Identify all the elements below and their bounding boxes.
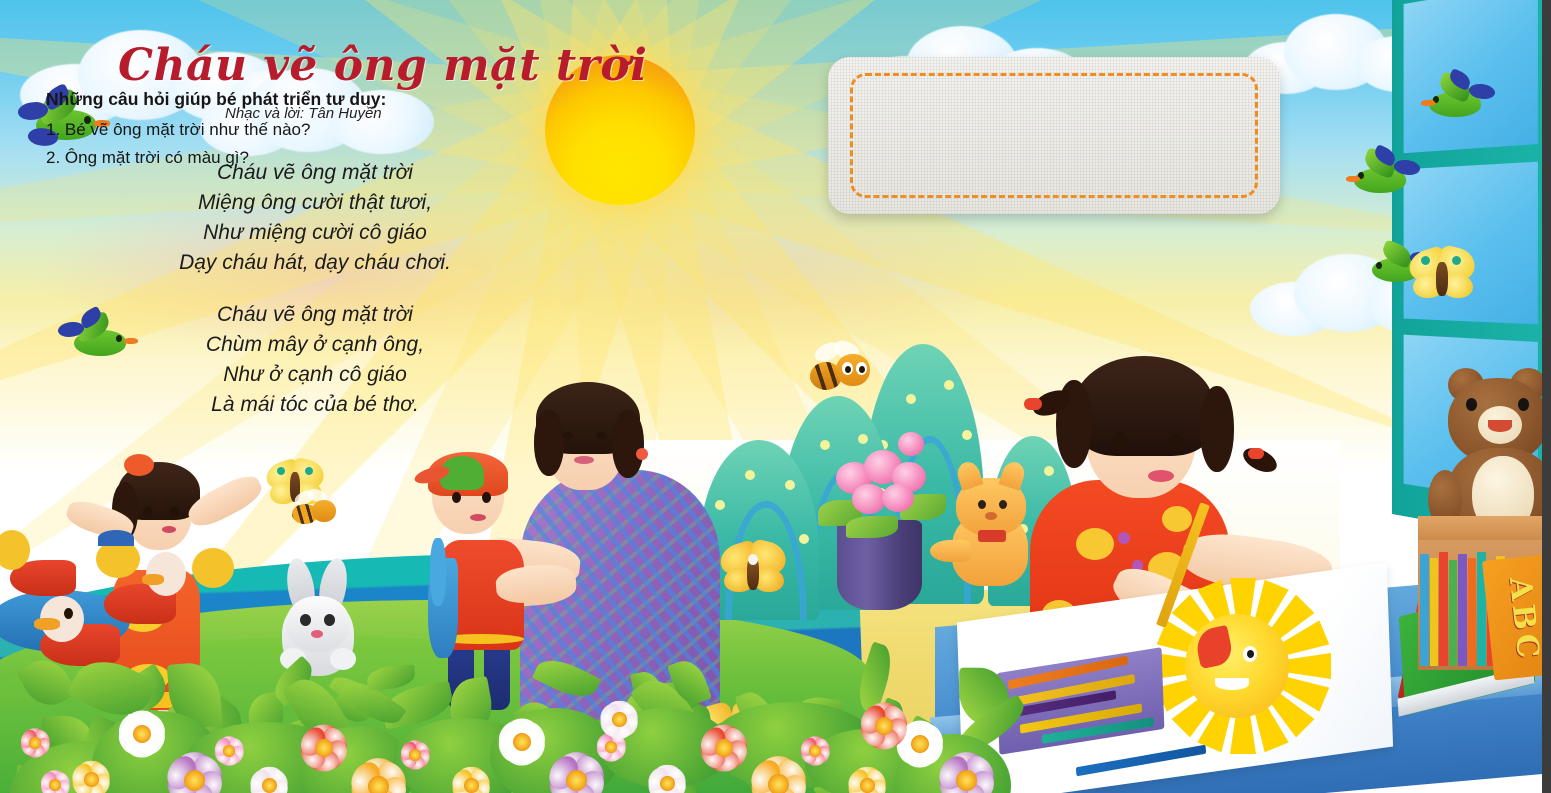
flower (648, 764, 687, 793)
flower-center (29, 737, 40, 748)
flower (214, 736, 244, 766)
lyric-line: Là mái tóc của bé thơ. (150, 390, 480, 420)
flower-center (860, 778, 875, 793)
question-box-dashed-border (850, 73, 1258, 198)
lyrics-stanza-1: Cháu vẽ ông mặt trời Miệng ông cười thật… (150, 158, 480, 278)
question-item-2: 2. Ông mặt trời có màu gì? (46, 148, 249, 168)
question-box-heading: Những câu hỏi giúp bé phát triển tư duy: (46, 89, 386, 110)
lyric-line: Miệng ông cười thật tươi, (150, 188, 480, 218)
lyric-line: Như ở cạnh cô giáo (150, 360, 480, 390)
leaf (532, 652, 602, 706)
flower (400, 740, 430, 770)
leaf (366, 664, 415, 690)
flower (600, 700, 639, 739)
flower-center (223, 745, 234, 756)
flower (498, 718, 546, 766)
flower (40, 770, 70, 793)
question-item-1: 1. Bé vẽ ông mặt trời như thế nào? (46, 120, 310, 140)
lyric-line: Như miệng cười cô giáo (150, 218, 480, 248)
flower (938, 752, 995, 793)
drawn-sun-on-paper (1155, 588, 1315, 748)
abc-book: ABC (1482, 552, 1551, 681)
bird (1415, 72, 1493, 124)
butterfly (1405, 246, 1479, 304)
song-lyrics: Cháu vẽ ông mặt trời Miệng ông cười thật… (150, 158, 480, 442)
flower (250, 766, 289, 793)
flower-center (368, 776, 390, 793)
flower (750, 756, 807, 793)
flower-center (464, 778, 479, 793)
lyric-line: Cháu vẽ ông mặt trời (150, 300, 480, 330)
lyric-line: Dạy cháu hát, dạy cháu chơi. (150, 248, 480, 278)
butterfly (716, 540, 790, 598)
flower-band (0, 640, 980, 793)
flower-center (768, 774, 790, 793)
flower (20, 728, 50, 758)
lyric-line: Chùm mây ở cạnh ông, (150, 330, 480, 360)
flower (860, 702, 908, 750)
flower (350, 758, 407, 793)
question-box (828, 57, 1280, 214)
flower-center (262, 778, 277, 793)
bird (1340, 148, 1418, 200)
flower (118, 710, 166, 758)
flower-center (84, 772, 99, 787)
flower (848, 766, 887, 793)
flower-center (49, 779, 60, 790)
abc-book-label: ABC (1502, 575, 1546, 663)
flower-center (409, 749, 420, 760)
leaf (15, 651, 77, 715)
bird (58, 310, 138, 364)
song-title: Cháu vẽ ông mặt trời (118, 40, 647, 91)
flower-center (809, 745, 820, 756)
flower (800, 736, 830, 766)
flower (300, 724, 348, 772)
flower (452, 766, 491, 793)
lyrics-stanza-2: Cháu vẽ ông mặt trời Chùm mây ở cạnh ông… (150, 300, 480, 420)
flower-center (605, 741, 616, 752)
flower-center (660, 776, 675, 791)
flower (700, 724, 748, 772)
page-edge (1542, 0, 1551, 793)
bee (290, 490, 338, 528)
flower (72, 760, 111, 793)
illustration-page: ABC (0, 0, 1551, 793)
bee (808, 342, 876, 394)
flower-center (612, 712, 627, 727)
